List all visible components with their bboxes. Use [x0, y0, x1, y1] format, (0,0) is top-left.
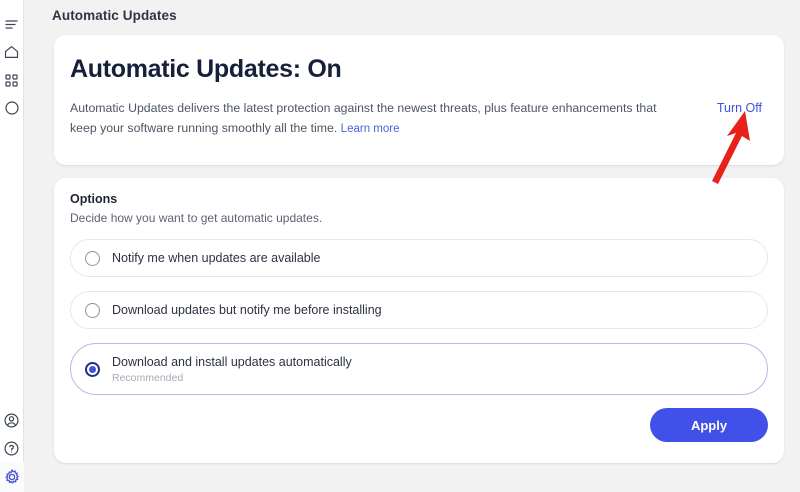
page-title: Automatic Updates — [52, 8, 177, 23]
apps-grid-icon[interactable] — [0, 66, 24, 94]
option-row-notify[interactable]: Notify me when updates are available — [70, 239, 768, 277]
automatic-updates-status-card: Automatic Updates: On Automatic Updates … — [54, 35, 784, 165]
settings-gear-icon[interactable] — [0, 462, 24, 492]
sidebar-rail — [0, 0, 24, 492]
account-icon[interactable] — [0, 406, 24, 434]
radio-icon-notify[interactable] — [85, 251, 100, 266]
top-bar: Automatic Updates — [25, 0, 800, 30]
home-icon[interactable] — [0, 38, 24, 66]
option-row-download-notify[interactable]: Download updates but notify me before in… — [70, 291, 768, 329]
sidebar-bottom-group — [0, 406, 24, 492]
help-icon[interactable] — [0, 434, 24, 462]
status-circle-icon[interactable] — [0, 94, 24, 122]
menu-icon[interactable] — [0, 10, 24, 38]
options-title: Options — [70, 192, 768, 206]
hero-description-line1: Automatic Updates delivers the latest pr… — [70, 101, 633, 115]
options-subtitle: Decide how you want to get automatic upd… — [70, 211, 768, 225]
option-note-recommended: Recommended — [112, 372, 352, 384]
option-label-notify: Notify me when updates are available — [112, 251, 320, 265]
radio-icon-download-notify[interactable] — [85, 303, 100, 318]
option-row-auto-install[interactable]: Download and install updates automatical… — [70, 343, 768, 395]
radio-icon-auto-install[interactable] — [85, 362, 100, 377]
options-card: Options Decide how you want to get autom… — [54, 178, 784, 463]
option-label-download-notify: Download updates but notify me before in… — [112, 303, 382, 317]
apply-button[interactable]: Apply — [650, 408, 768, 442]
learn-more-link[interactable]: Learn more — [341, 123, 400, 135]
hero-title: Automatic Updates: On — [70, 57, 762, 82]
content-area: Automatic Updates: On Automatic Updates … — [25, 30, 800, 492]
sidebar-top-group — [0, 0, 24, 122]
option-label-auto-install: Download and install updates automatical… — [112, 355, 352, 369]
apply-button-row: Apply — [650, 408, 768, 442]
hero-description: Automatic Updates delivers the latest pr… — [70, 98, 670, 139]
turn-off-link[interactable]: Turn Off — [717, 101, 762, 115]
